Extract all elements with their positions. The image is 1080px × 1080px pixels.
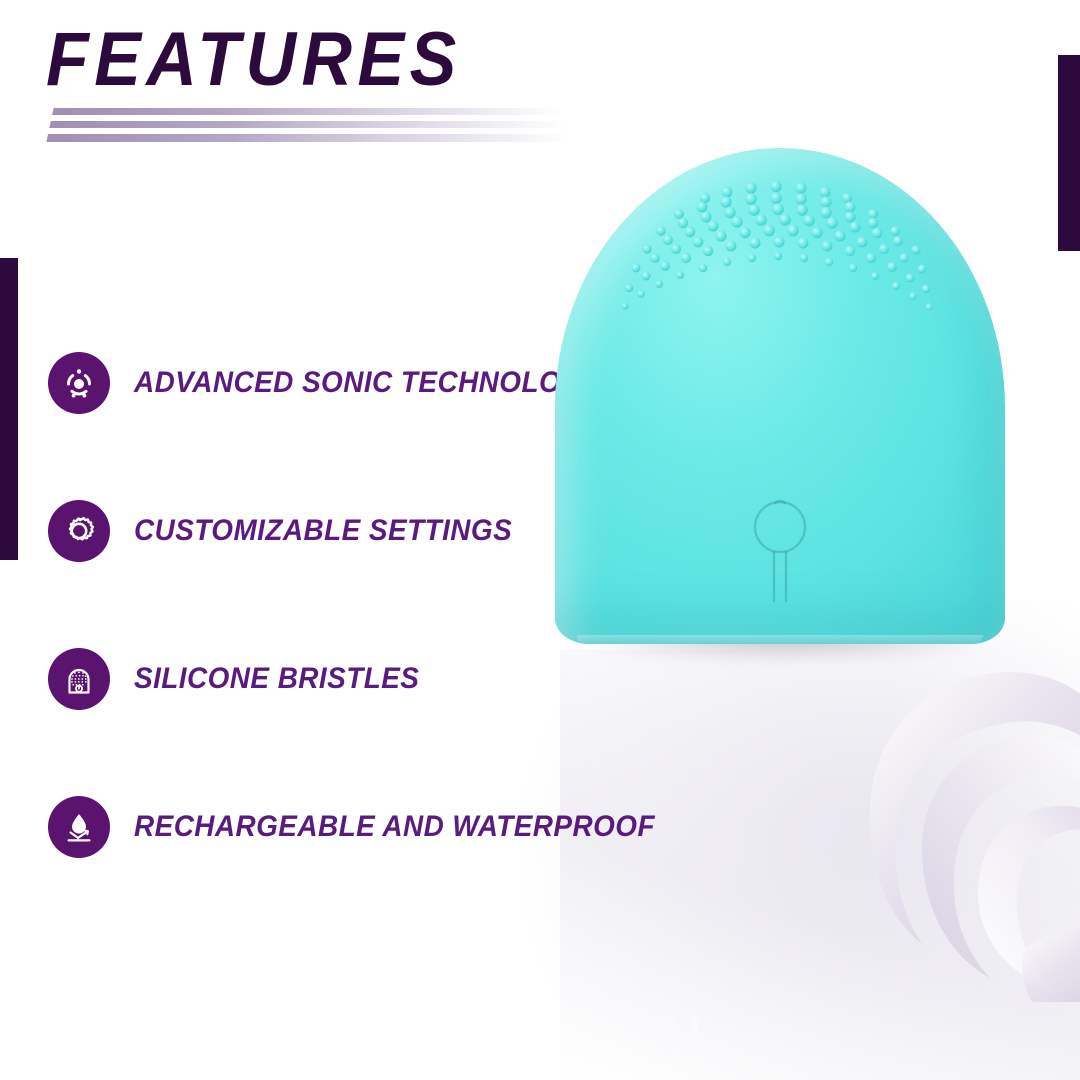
gear-icon: [48, 500, 110, 562]
cleansing-device-icon: [48, 648, 110, 710]
background-wash-secondary: [560, 650, 1080, 1080]
purple-accent-bar-left: [0, 258, 18, 560]
title-underline-rules: [46, 108, 573, 142]
feature-label: CUSTOMIZABLE SETTINGS: [134, 514, 512, 548]
sonic-waves-icon: [48, 352, 110, 414]
product-body: [555, 148, 1005, 644]
purple-accent-bar-right: [1058, 55, 1080, 251]
feature-item-rechargeable-waterproof[interactable]: RECHARGEABLE AND WATERPROOF: [48, 790, 628, 864]
bottom-watermark: N: [660, 1005, 704, 1072]
rule-line-1: [52, 108, 563, 115]
rule-line-3: [46, 134, 570, 142]
rule-line-2: [49, 121, 566, 128]
page-header: FEATURES: [46, 24, 666, 148]
abstract-ribbon-swirl: [818, 662, 1080, 1002]
feature-label: ADVANCED SONIC TECHNOLOGY: [134, 366, 602, 400]
waterproof-droplet-icon: [48, 796, 110, 858]
feature-label: SILICONE BRISTLES: [134, 662, 419, 696]
feature-item-sonic-technology[interactable]: ADVANCED SONIC TECHNOLOGY: [48, 346, 628, 420]
feature-infographic-page: FEATURES ADVANCED SONIC TECHNOLOGY: [0, 0, 1080, 1080]
feature-list: ADVANCED SONIC TECHNOLOGY CUSTOMIZABLE S…: [48, 346, 628, 938]
page-title: FEATURES: [46, 24, 616, 96]
product-bristle-dots: [555, 148, 1005, 398]
feature-item-customizable-settings[interactable]: CUSTOMIZABLE SETTINGS: [48, 494, 628, 568]
feature-item-silicone-bristles[interactable]: SILICONE BRISTLES: [48, 642, 628, 716]
product-bottom-edge: [577, 635, 983, 644]
product-image: [555, 148, 1005, 648]
feature-label: RECHARGEABLE AND WATERPROOF: [134, 810, 655, 844]
power-icon: [744, 489, 816, 612]
